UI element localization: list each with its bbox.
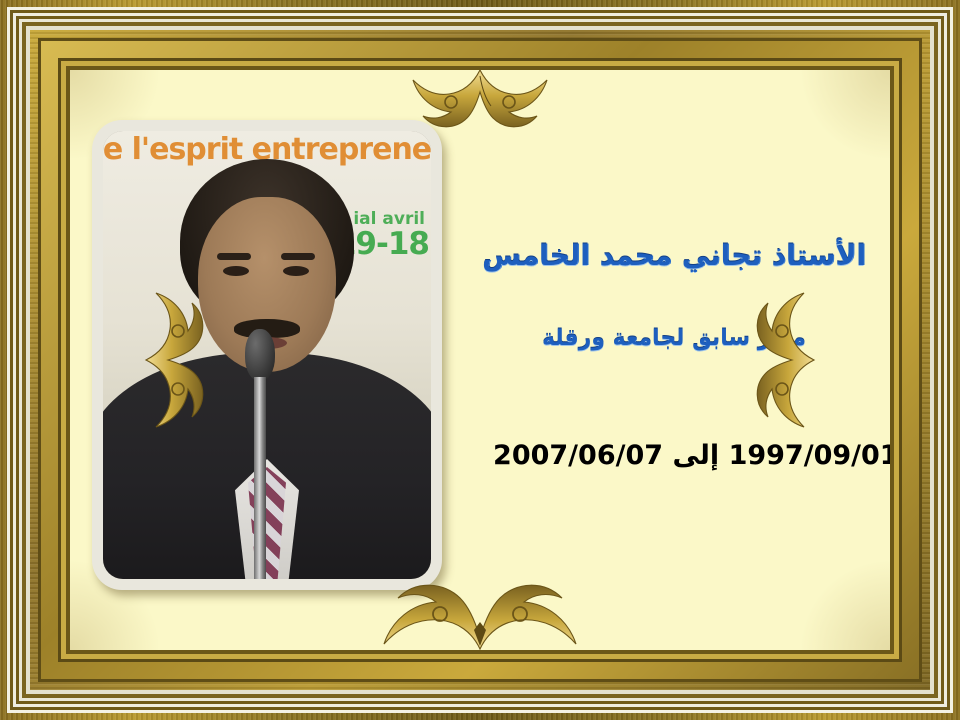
photo-eye-right: [283, 266, 309, 276]
microphone-head: [245, 329, 275, 381]
page-title: الأستاذ تجاني محمد الخامس: [450, 238, 890, 273]
microphone-icon: [245, 329, 275, 579]
photo-eyebrow-right: [281, 253, 315, 260]
tenure-date-range: من 1997/09/01 إلى 2007/06/07: [493, 438, 890, 473]
portrait-photo-frame: e l'esprit entreprene ial avril 19-18: [92, 120, 442, 590]
page-subtitle: مدير سابق لجامعة ورقلة: [450, 325, 890, 354]
photo-eyebrow-left: [217, 253, 251, 260]
text-column: الأستاذ تجاني محمد الخامس مدير سابق لجام…: [450, 70, 890, 650]
photo-eye-left: [223, 266, 249, 276]
list-item: من 1997/09/01 إلى 2007/06/07: [450, 438, 890, 473]
microphone-stem: [254, 377, 266, 579]
slide-root: e l'esprit entreprene ial avril 19-18: [0, 0, 960, 720]
portrait-photo: e l'esprit entreprene ial avril 19-18: [103, 131, 431, 579]
slide-canvas: e l'esprit entreprene ial avril 19-18: [70, 70, 890, 650]
